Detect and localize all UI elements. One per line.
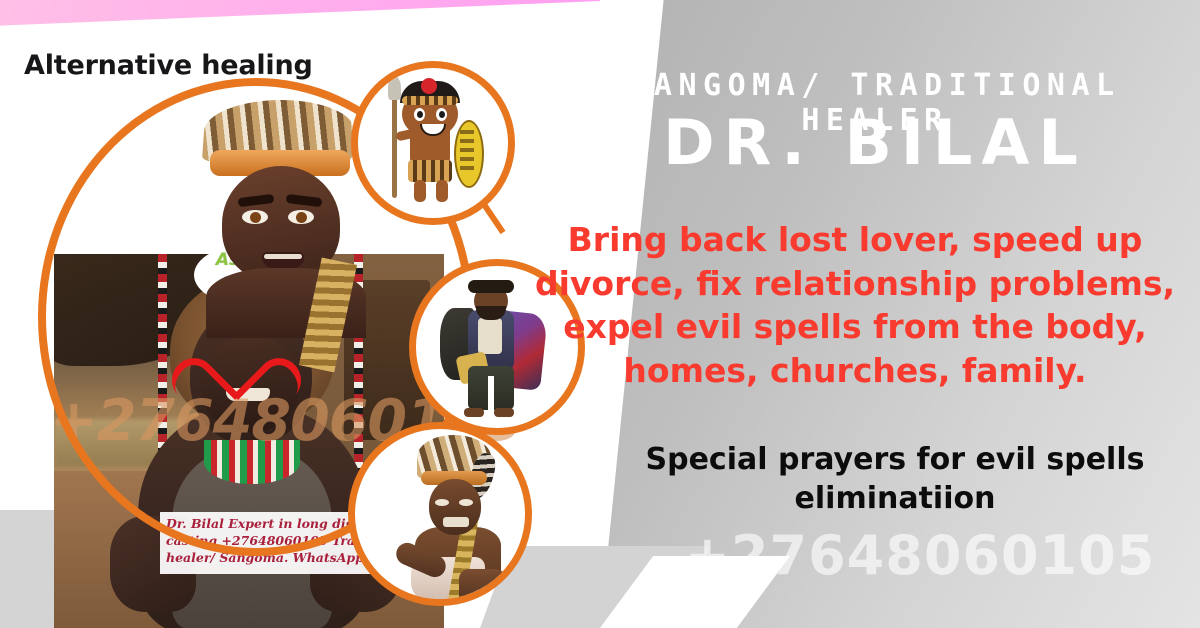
cartoon-headband <box>402 96 458 105</box>
shield-pattern <box>460 130 474 174</box>
healer-shirt <box>478 318 502 354</box>
healer-foot-right <box>494 408 514 417</box>
cartoon-pupil-right <box>439 111 445 118</box>
healer-foot-left <box>464 408 484 417</box>
healer-hat-icon <box>468 280 514 293</box>
warrior-teeth <box>264 254 302 259</box>
prayers-text: Special prayers for evil spells eliminat… <box>600 440 1190 518</box>
cartoon-pupil-left <box>417 111 423 118</box>
phone-watermark: +27648060105 <box>640 524 1200 587</box>
warrior-pupil-left <box>250 212 261 223</box>
services-text: Bring back lost lover, speed up divorce,… <box>530 218 1180 392</box>
top-pink-band <box>0 0 600 26</box>
cartoon-red-plume-icon <box>421 78 437 94</box>
circle-badge-crouching-warrior <box>348 422 532 606</box>
healer-leg-gap <box>488 376 494 410</box>
advert-canvas: +27648060105 Ask the expert Dr. Bilal Ex… <box>0 0 1200 628</box>
cartoon-leg-left <box>414 180 426 202</box>
cartoon-leg-right <box>436 180 448 202</box>
circle-badge-cartoon-zulu <box>351 61 515 225</box>
crouch-eye-right <box>459 499 473 506</box>
cartoon-skirt <box>408 160 452 182</box>
crouch-eye-left <box>435 499 449 506</box>
warrior-pupil-right <box>296 212 307 223</box>
crouch-mouth <box>443 517 469 527</box>
headline-title: DR. BILAL <box>565 106 1185 179</box>
page-title: Alternative healing <box>24 50 313 81</box>
spear-icon <box>392 86 397 198</box>
spear-tip-icon <box>388 76 401 100</box>
